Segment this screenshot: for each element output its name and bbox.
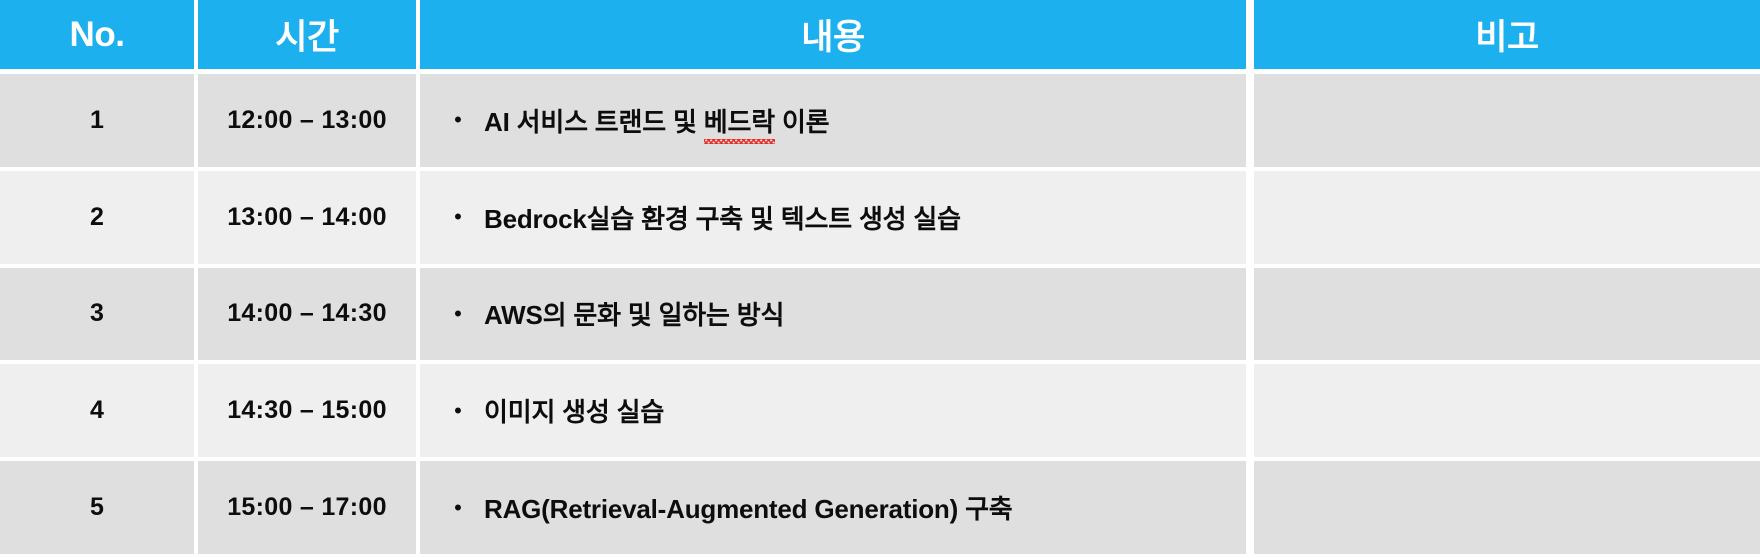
table-row: 4 14:30 – 15:00 • 이미지 생성 실습 — [0, 364, 1760, 461]
row-remark-cell — [1250, 74, 1760, 171]
content-text-prefix: AI 서비스 트랜드 및 — [484, 107, 704, 137]
table-row: 2 13:00 – 14:00 • Bedrock실습 환경 구축 및 텍스트 … — [0, 171, 1760, 268]
row-content-text: Bedrock실습 환경 구축 및 텍스트 생성 실습 — [484, 199, 961, 236]
row-remark-cell — [1250, 461, 1760, 558]
bullet-icon: • — [432, 303, 484, 325]
row-time-cell: 14:30 – 15:00 — [198, 364, 420, 461]
row-remark-cell — [1250, 364, 1760, 461]
table-row: 1 12:00 – 13:00 • AI 서비스 트랜드 및 베드락 이론 — [0, 74, 1760, 171]
table-body: 1 12:00 – 13:00 • AI 서비스 트랜드 및 베드락 이론 2 … — [0, 74, 1760, 558]
column-header-remark: 비고 — [1250, 0, 1760, 74]
row-time-cell: 12:00 – 13:00 — [198, 74, 420, 171]
row-remark-cell — [1250, 171, 1760, 268]
row-content-text: AWS의 문화 및 일하는 방식 — [484, 295, 784, 332]
row-number-cell: 4 — [0, 364, 198, 461]
row-number-cell: 1 — [0, 74, 198, 171]
bullet-icon: • — [432, 497, 484, 519]
row-content-text: RAG(Retrieval-Augmented Generation) 구축 — [484, 489, 1013, 526]
column-header-no: No. — [0, 0, 198, 74]
row-content-text: 이미지 생성 실습 — [484, 392, 664, 429]
row-content-cell: • RAG(Retrieval-Augmented Generation) 구축 — [420, 461, 1250, 558]
row-content-cell: • 이미지 생성 실습 — [420, 364, 1250, 461]
row-time-cell: 15:00 – 17:00 — [198, 461, 420, 558]
row-content-cell: • AI 서비스 트랜드 및 베드락 이론 — [420, 74, 1250, 171]
row-number-cell: 3 — [0, 268, 198, 365]
misspelled-word: 베드락 — [704, 102, 775, 139]
row-time-cell: 13:00 – 14:00 — [198, 171, 420, 268]
bullet-icon: • — [432, 206, 484, 228]
content-text-suffix: 이론 — [775, 107, 829, 137]
bullet-icon: • — [432, 109, 484, 131]
table-header: No. 시간 내용 비고 — [0, 0, 1760, 74]
column-header-time: 시간 — [198, 0, 420, 74]
row-number-cell: 2 — [0, 171, 198, 268]
row-content-cell: • Bedrock실습 환경 구축 및 텍스트 생성 실습 — [420, 171, 1250, 268]
table-row: 3 14:00 – 14:30 • AWS의 문화 및 일하는 방식 — [0, 268, 1760, 365]
row-time-cell: 14:00 – 14:30 — [198, 268, 420, 365]
column-header-content: 내용 — [420, 0, 1250, 74]
schedule-table: No. 시간 내용 비고 1 12:00 – 13:00 • AI 서비스 트랜… — [0, 0, 1760, 558]
bullet-icon: • — [432, 400, 484, 422]
row-remark-cell — [1250, 268, 1760, 365]
row-content-text: AI 서비스 트랜드 및 베드락 이론 — [484, 102, 829, 139]
header-row: No. 시간 내용 비고 — [0, 0, 1760, 74]
row-content-cell: • AWS의 문화 및 일하는 방식 — [420, 268, 1250, 365]
row-number-cell: 5 — [0, 461, 198, 558]
table-row: 5 15:00 – 17:00 • RAG(Retrieval-Augmente… — [0, 461, 1760, 558]
